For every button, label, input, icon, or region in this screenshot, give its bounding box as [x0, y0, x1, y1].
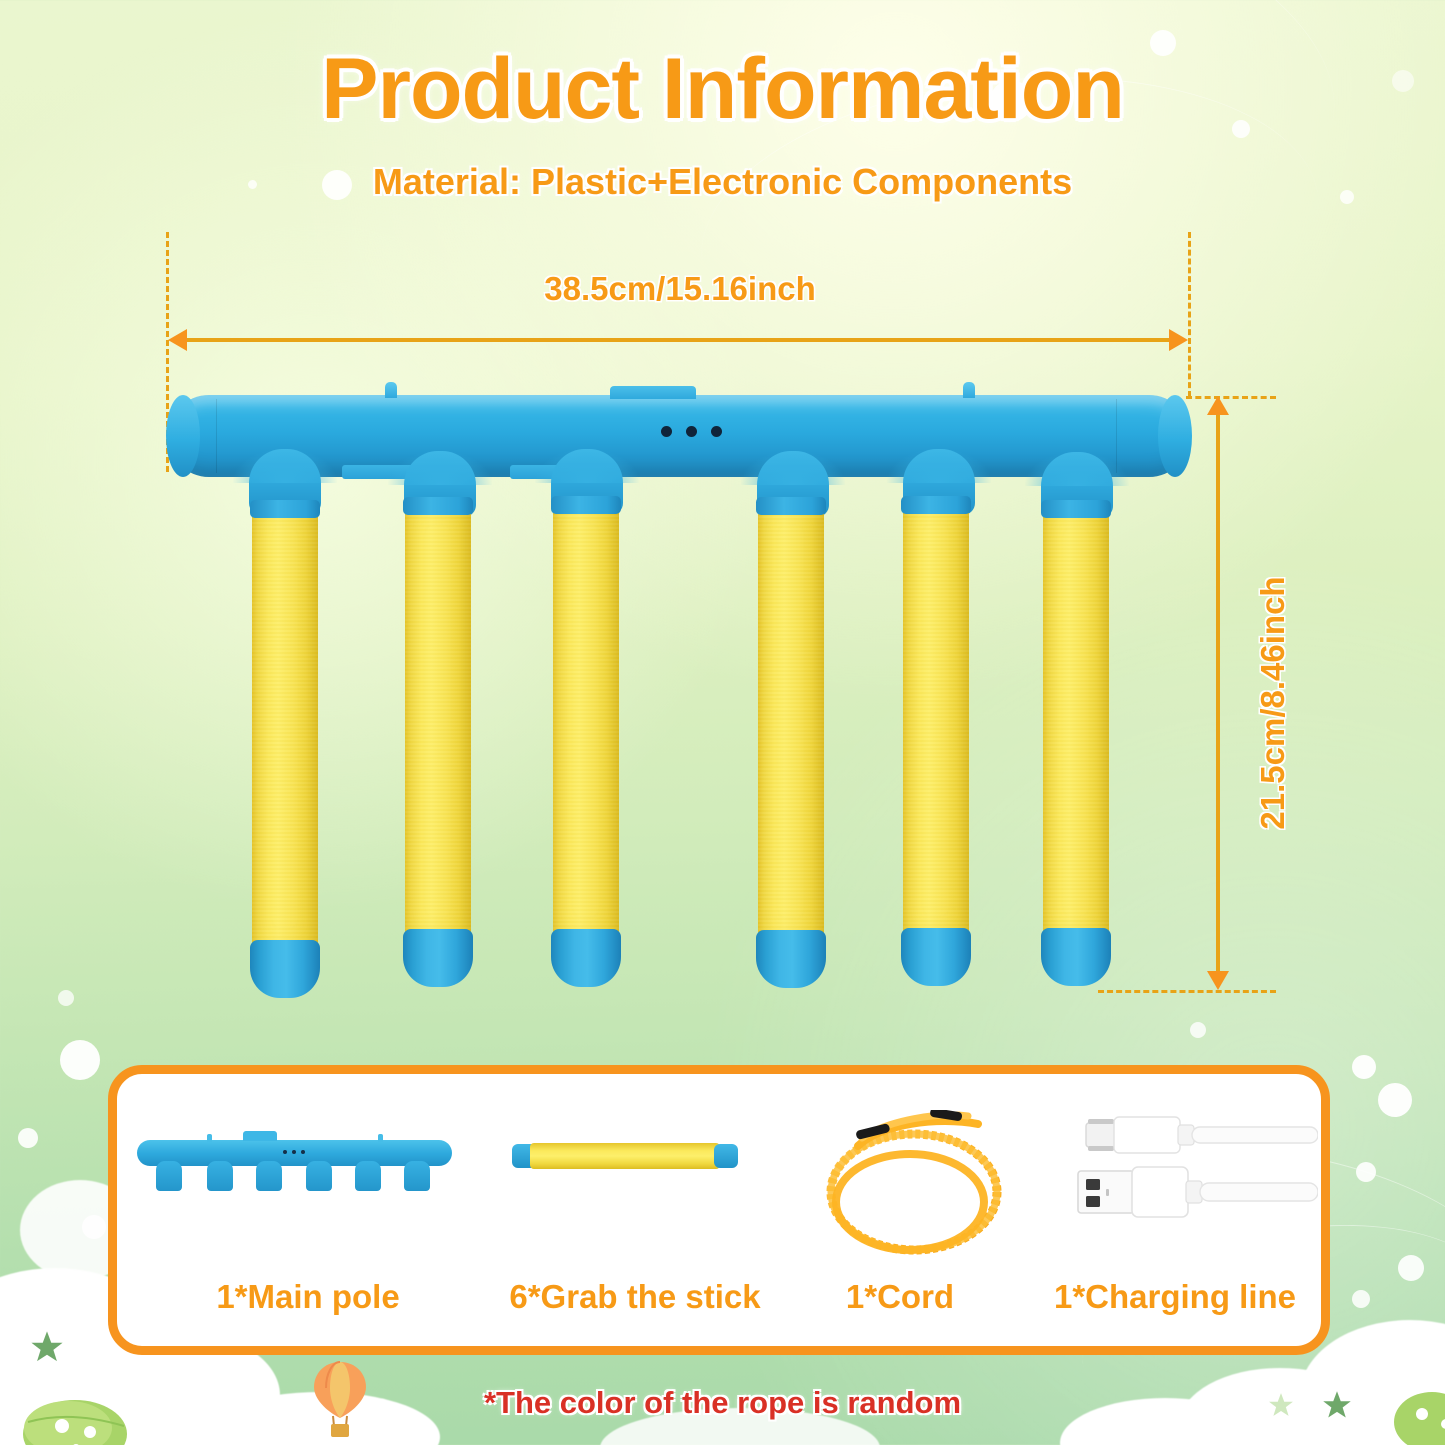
bokeh-circle	[1356, 1162, 1376, 1182]
grab-stick	[903, 504, 969, 936]
stick-tube	[758, 505, 824, 938]
part-label-main-pole: 1*Main pole	[118, 1278, 498, 1316]
stick-socket	[249, 449, 321, 515]
bar-nub	[385, 382, 397, 398]
stick-tube	[903, 504, 969, 936]
stick-cap-bottom	[551, 929, 621, 987]
stick-socket	[551, 449, 623, 515]
stick-cap-bottom	[901, 928, 971, 986]
bar-seam	[216, 399, 217, 473]
main-pole-bar	[168, 395, 1190, 477]
bokeh-circle	[82, 1215, 106, 1239]
height-guide-top	[1186, 396, 1276, 399]
bar-nub	[963, 382, 975, 398]
bar-seam	[1116, 399, 1117, 473]
part-label-charging-line: 1*Charging line	[1010, 1278, 1340, 1316]
bokeh-circle	[1398, 1255, 1424, 1281]
power-button[interactable]	[610, 386, 696, 399]
stick-tube	[405, 505, 471, 937]
mini-led-group	[283, 1150, 305, 1154]
stick-cap-top	[250, 500, 320, 518]
bar-slot	[510, 465, 596, 479]
led-dot	[301, 1150, 305, 1154]
mini-socket	[207, 1161, 233, 1191]
stick-socket	[404, 451, 476, 517]
stick-socket	[757, 451, 829, 517]
mini-bar-nub	[378, 1134, 383, 1142]
bokeh-circle	[1190, 1022, 1206, 1038]
bokeh-circle	[1352, 1290, 1370, 1308]
led-dot	[292, 1150, 296, 1154]
led-dot	[283, 1150, 287, 1154]
material-subtitle: Material: Plastic+Electronic Components	[0, 161, 1445, 203]
bar-end-cap-right	[1158, 395, 1192, 477]
stick-tube	[1043, 508, 1109, 936]
bokeh-circle	[58, 990, 74, 1006]
page-title: Product Information	[0, 40, 1445, 139]
stick-tube	[553, 504, 619, 937]
bar-end-cap-left	[166, 395, 200, 477]
bokeh-circle	[1352, 1055, 1376, 1079]
page-header: Product Information Material: Plastic+El…	[0, 40, 1445, 203]
bokeh-circle	[1378, 1083, 1412, 1117]
grab-stick	[252, 508, 318, 948]
led-indicator-group	[661, 426, 722, 437]
mini-socket	[156, 1161, 182, 1191]
grab-stick	[758, 505, 824, 938]
width-dimension-label: 38.5cm/15.16inch	[0, 270, 1360, 308]
mini-socket	[404, 1161, 430, 1191]
stick-cap-bottom	[250, 940, 320, 998]
width-guide-right	[1188, 232, 1191, 397]
width-guide-left	[166, 232, 169, 472]
mini-socket	[256, 1161, 282, 1191]
height-guide-bottom	[1098, 990, 1276, 993]
mini-socket	[355, 1161, 381, 1191]
stick-tube	[252, 508, 318, 948]
rope-color-note: *The color of the rope is random	[0, 1385, 1445, 1421]
led-dot	[686, 426, 697, 437]
stick-cap-top	[1041, 500, 1111, 518]
stick-cap-top	[403, 497, 473, 515]
width-dimension-arrow	[186, 338, 1170, 342]
stick-cap-bottom	[403, 929, 473, 987]
stick-cap-top	[901, 496, 971, 514]
stick-cap-top	[551, 496, 621, 514]
mini-bar-nub	[207, 1134, 212, 1142]
bokeh-circle	[18, 1128, 38, 1148]
bokeh-circle	[60, 1040, 100, 1080]
led-dot	[661, 426, 672, 437]
star-icon	[30, 1330, 64, 1364]
stick-cap-bottom	[1041, 928, 1111, 986]
grab-stick-icon	[512, 1143, 738, 1169]
grab-stick	[1043, 508, 1109, 936]
charging-cable-icon	[1068, 1115, 1318, 1230]
mini-socket	[306, 1161, 332, 1191]
bar-slot	[342, 465, 428, 479]
height-dimension-label: 21.5cm/8.46inch	[1254, 558, 1292, 848]
stick-cap-top	[756, 497, 826, 515]
grab-stick	[405, 505, 471, 937]
grab-stick	[553, 504, 619, 937]
part-label-cord: 1*Cord	[760, 1278, 1040, 1316]
led-dot	[711, 426, 722, 437]
height-dimension-arrow	[1216, 414, 1220, 972]
stick-socket	[1041, 452, 1113, 518]
mini-power-button	[243, 1131, 277, 1141]
mini-stick-cap	[714, 1144, 738, 1168]
cord-icon	[818, 1110, 1008, 1260]
stick-cap-bottom	[756, 930, 826, 988]
mini-stick-tube	[530, 1143, 720, 1169]
stick-socket	[903, 449, 975, 515]
